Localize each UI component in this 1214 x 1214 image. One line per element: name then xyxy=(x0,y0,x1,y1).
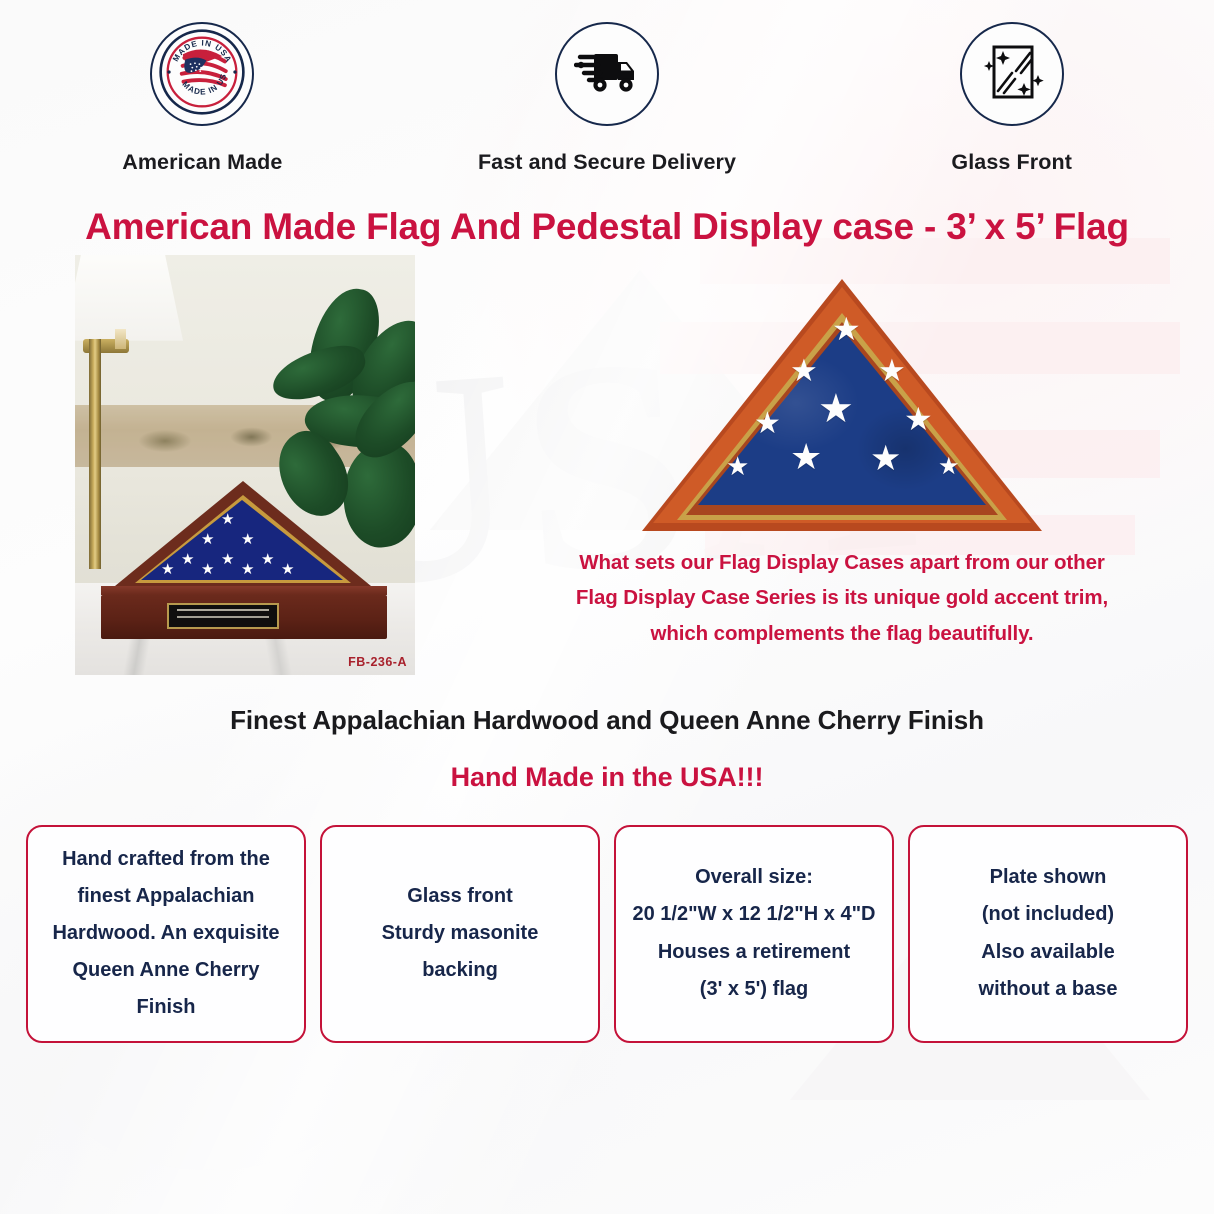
feature-american-made: MADE IN USA MADE IN USA American Made xyxy=(0,22,405,177)
feature-icons-row: MADE IN USA MADE IN USA American Made xyxy=(0,0,1214,177)
photo-pedestal-top xyxy=(101,586,387,595)
spec-card-dimensions: Overall size: 20 1/2"W x 12 1/2"H x 4"D … xyxy=(614,825,894,1043)
glass-front-badge-circle xyxy=(960,22,1064,126)
hero-flag-star: ★ xyxy=(818,389,854,429)
photo-flag-star: ★ xyxy=(241,562,254,577)
photo-engraved-plaque xyxy=(167,603,279,629)
spec-card-glass-front: Glass front Sturdy masonite backing xyxy=(320,825,600,1043)
photo-flag-star: ★ xyxy=(181,552,194,567)
page-title: American Made Flag And Pedestal Display … xyxy=(0,203,1214,250)
feature-fast-delivery: Fast and Secure Delivery xyxy=(405,22,810,177)
photo-flag-star: ★ xyxy=(221,512,234,527)
flag-case-on-pedestal-lifestyle-photo: ★ ★ ★ ★ ★ ★ ★ ★ ★ ★ FB-236-A xyxy=(75,255,415,675)
flag-display-case-hero-photo: ★ ★ ★ ★ ★ ★ ★ ★ ★ ★ xyxy=(642,263,1042,531)
photo-lamp-pole xyxy=(89,339,101,569)
hero-flag-star: ★ xyxy=(790,439,822,475)
hero-flag-star: ★ xyxy=(870,441,901,476)
hero-flag-star: ★ xyxy=(878,355,906,386)
photo-lamp-shade xyxy=(75,255,183,341)
feature-label-fast-delivery: Fast and Secure Delivery xyxy=(478,148,736,177)
hero-flag-star: ★ xyxy=(754,409,781,439)
feature-label-american-made: American Made xyxy=(122,148,282,177)
photo-flag-case-assembly: ★ ★ ★ ★ ★ ★ ★ ★ ★ ★ xyxy=(101,479,391,639)
hero-flag-star: ★ xyxy=(904,403,933,435)
spec-cards-row: Hand crafted from the finest Appalachian… xyxy=(0,825,1214,1043)
photo-flag-star: ★ xyxy=(201,562,214,577)
photo-watermark-code: FB-236-A xyxy=(348,655,407,669)
product-infographic-page: USA xyxy=(0,0,1214,1214)
glass-pane-sparkle-icon xyxy=(978,41,1046,108)
hero-flag-star: ★ xyxy=(790,355,818,386)
product-showcase: ★ ★ ★ ★ ★ ★ ★ ★ ★ ★ FB-236-A xyxy=(0,255,1214,675)
photo-flag-star: ★ xyxy=(241,532,254,547)
fast-delivery-badge-circle xyxy=(555,22,659,126)
photo-flag-star: ★ xyxy=(221,552,234,567)
feature-label-glass-front: Glass Front xyxy=(951,148,1072,177)
spec-card-plate-note: Plate shown (not included) Also availabl… xyxy=(908,825,1188,1043)
made-in-usa-badge-circle: MADE IN USA MADE IN USA xyxy=(150,22,254,126)
hero-flag-star: ★ xyxy=(938,455,960,479)
fast-delivery-truck-icon xyxy=(574,44,640,105)
photo-flag-star: ★ xyxy=(201,532,214,547)
photo-flag-star: ★ xyxy=(261,552,274,567)
made-in-usa-badge-icon: MADE IN USA MADE IN USA xyxy=(158,28,246,121)
feature-glass-front: Glass Front xyxy=(809,22,1214,177)
tagline-handmade: Hand Made in the USA!!! xyxy=(0,762,1214,793)
selling-copy: What sets our Flag Display Cases apart f… xyxy=(512,545,1172,653)
hero-flag-star: ★ xyxy=(726,453,749,479)
hero-flag-star: ★ xyxy=(832,313,861,345)
spec-card-craftsmanship: Hand crafted from the finest Appalachian… xyxy=(26,825,306,1043)
photo-flag-star: ★ xyxy=(161,562,174,577)
photo-flag-star: ★ xyxy=(281,562,294,577)
tagline-materials: Finest Appalachian Hardwood and Queen An… xyxy=(0,705,1214,736)
photo-lamp-candle xyxy=(115,329,126,349)
